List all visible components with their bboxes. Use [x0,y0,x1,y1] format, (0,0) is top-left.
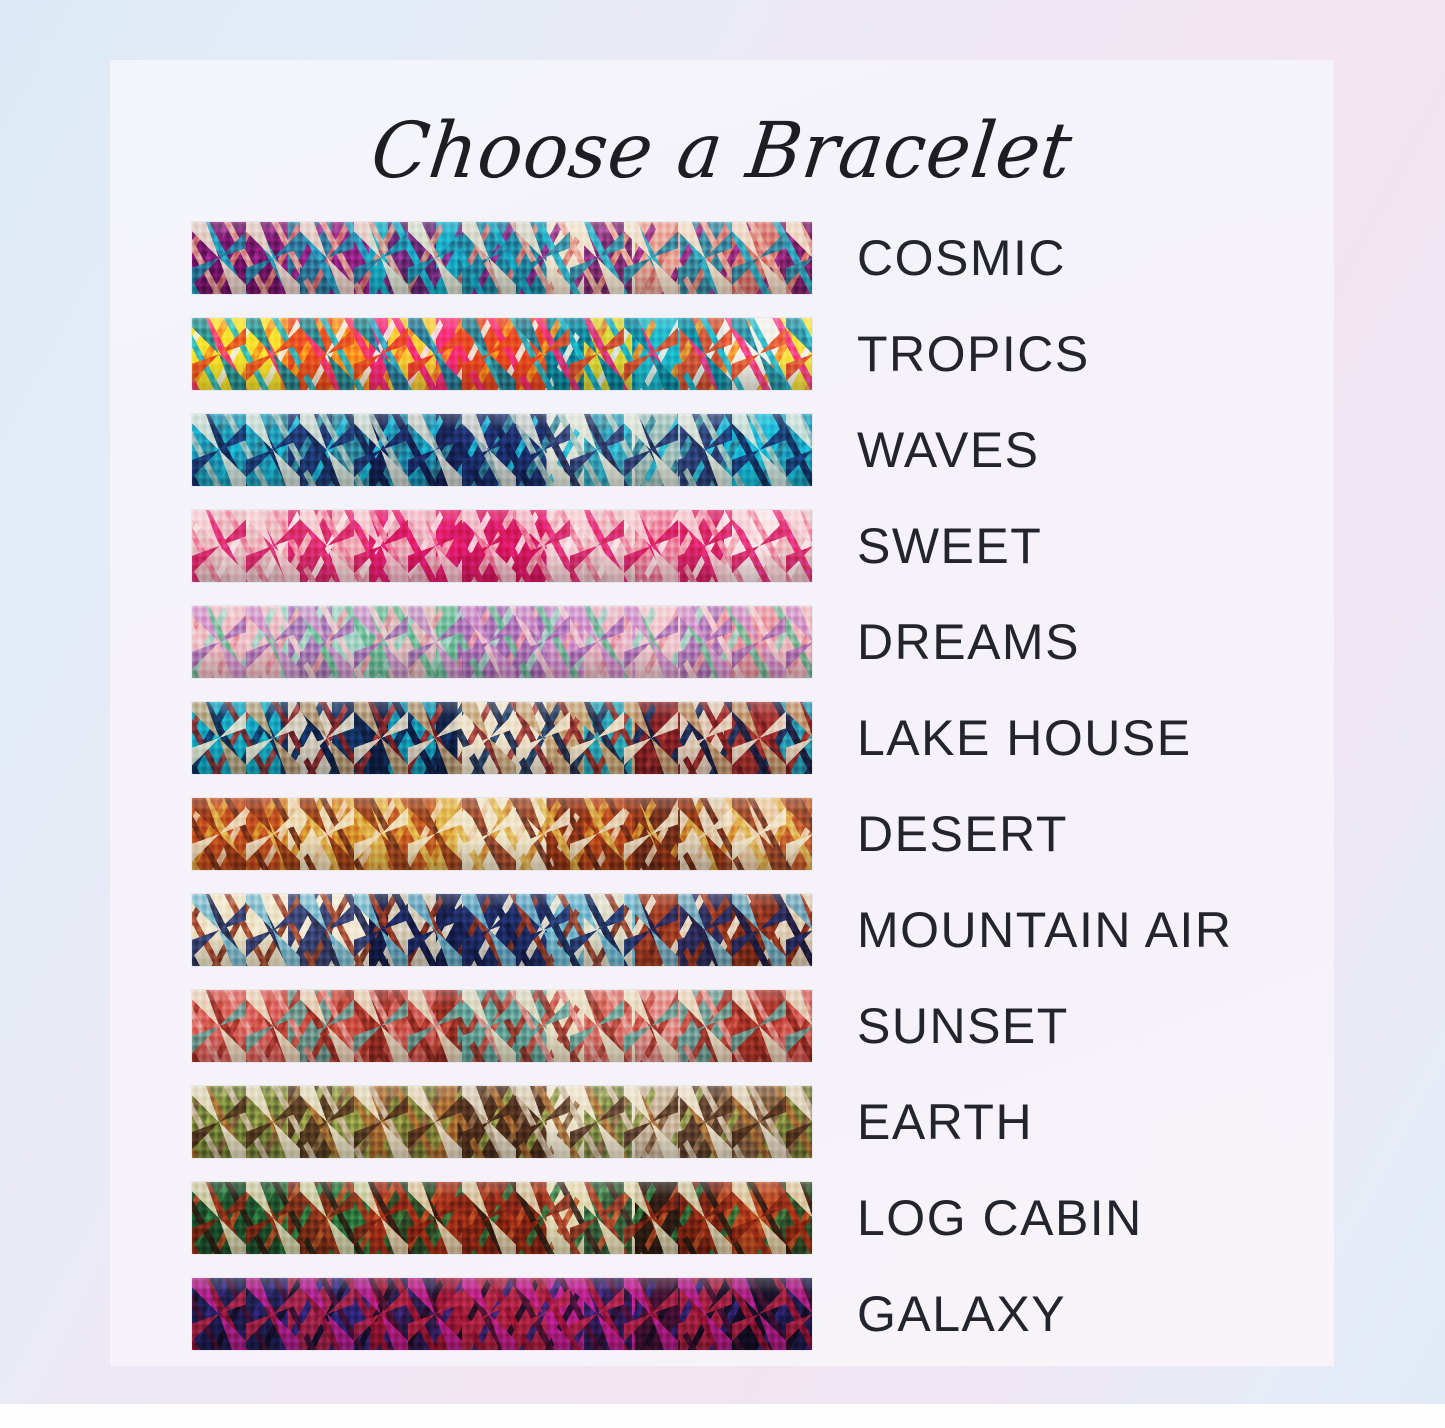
bracelet-row[interactable]: SWEET [192,510,1282,606]
bracelet-swatch-mountain-air[interactable] [192,894,812,966]
page-title: Choose a Bracelet [105,106,1340,195]
bottom-strip [0,1404,1445,1428]
bracelet-label[interactable]: DESERT [857,798,1068,870]
swatch-shading [192,318,812,390]
bracelet-label[interactable]: GALAXY [857,1278,1066,1350]
bracelet-swatch-earth[interactable] [192,1086,812,1158]
bracelet-swatch-tropics[interactable] [192,318,812,390]
bracelet-label[interactable]: EARTH [857,1086,1033,1158]
bracelet-label[interactable]: SUNSET [857,990,1069,1062]
bracelet-row[interactable]: DESERT [192,798,1282,894]
bracelet-row[interactable]: TROPICS [192,318,1282,414]
swatch-shading [192,990,812,1062]
page-backdrop: Choose a Bracelet COSMICTROPICSWAVESSWEE… [0,0,1445,1428]
swatch-shading [192,894,812,966]
bracelet-swatch-dreams[interactable] [192,606,812,678]
bracelet-label[interactable]: LOG CABIN [857,1182,1143,1254]
swatch-shading [192,1182,812,1254]
swatch-shading [192,510,812,582]
bracelet-row[interactable]: GALAXY [192,1278,1282,1374]
bracelet-swatch-cosmic[interactable] [192,222,812,294]
bracelet-swatch-desert[interactable] [192,798,812,870]
bracelet-row[interactable]: DREAMS [192,606,1282,702]
swatch-shading [192,606,812,678]
bracelet-label[interactable]: SWEET [857,510,1042,582]
bracelet-label[interactable]: MOUNTAIN AIR [857,894,1232,966]
bracelet-row[interactable]: WAVES [192,414,1282,510]
swatch-shading [192,702,812,774]
bracelet-swatch-sunset[interactable] [192,990,812,1062]
swatch-shading [192,798,812,870]
swatch-shading [192,1086,812,1158]
swatch-shading [192,222,812,294]
bracelet-row[interactable]: LAKE HOUSE [192,702,1282,798]
bracelet-label[interactable]: WAVES [857,414,1040,486]
swatch-shading [192,414,812,486]
bracelet-label[interactable]: COSMIC [857,222,1066,294]
bracelet-swatch-sweet[interactable] [192,510,812,582]
bracelet-swatch-log-cabin[interactable] [192,1182,812,1254]
bracelet-swatch-galaxy[interactable] [192,1278,812,1350]
bracelet-row[interactable]: SUNSET [192,990,1282,1086]
bracelet-row[interactable]: MOUNTAIN AIR [192,894,1282,990]
bracelet-row[interactable]: EARTH [192,1086,1282,1182]
bracelet-row[interactable]: COSMIC [192,222,1282,318]
swatch-shading [192,1278,812,1350]
bracelet-label[interactable]: TROPICS [857,318,1090,390]
bracelet-label[interactable]: LAKE HOUSE [857,702,1192,774]
bracelet-swatch-lake-house[interactable] [192,702,812,774]
bracelet-label[interactable]: DREAMS [857,606,1080,678]
bracelet-list: COSMICTROPICSWAVESSWEETDREAMSLAKE HOUSED… [192,222,1282,1374]
bracelet-swatch-waves[interactable] [192,414,812,486]
bracelet-row[interactable]: LOG CABIN [192,1182,1282,1278]
bracelet-selection-card: Choose a Bracelet COSMICTROPICSWAVESSWEE… [110,60,1334,1366]
